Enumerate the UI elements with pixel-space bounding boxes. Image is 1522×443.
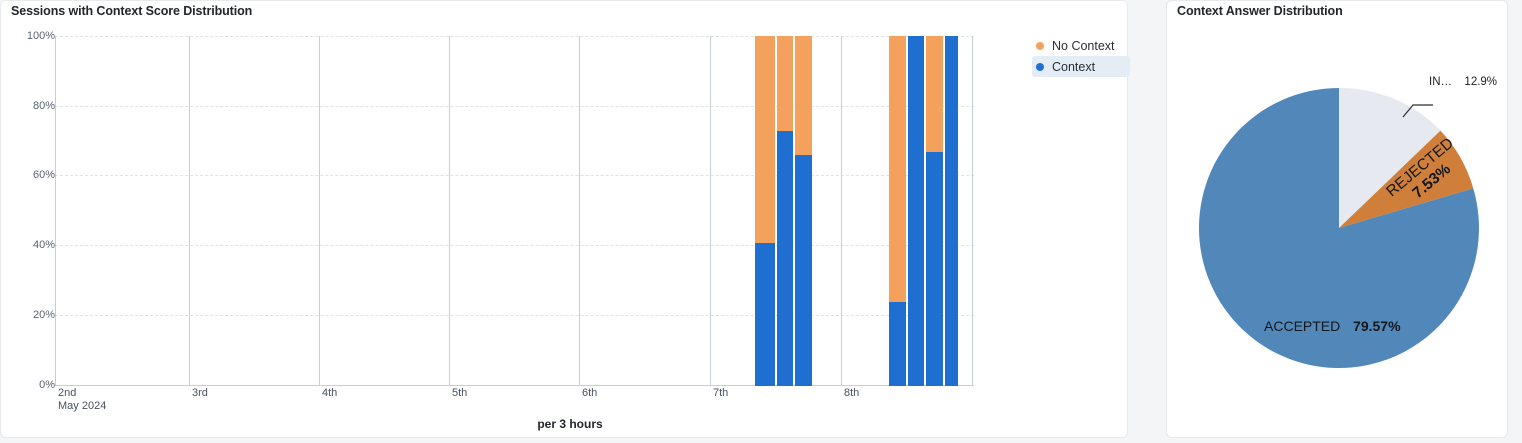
pie-label-accepted-group: ACCEPTED 79.57%	[1264, 318, 1401, 334]
legend-item-context[interactable]: Context	[1032, 56, 1130, 77]
x-axis-tick-4th: 4th	[319, 387, 337, 400]
plot-area	[55, 36, 974, 386]
y-axis-tick-60: 60%	[15, 169, 55, 181]
bar-segment-context	[945, 36, 958, 386]
legend-dot-icon	[1036, 42, 1044, 50]
bar-segment-context	[889, 302, 906, 386]
y-axis-tick-40: 40%	[15, 239, 55, 251]
x-axis-tick-7th: 7th	[710, 387, 728, 400]
x-axis-tick-5th: 5th	[449, 387, 467, 400]
sessions-context-score-card: Sessions with Context Score Distribution…	[0, 0, 1128, 438]
stacked-bar[interactable]	[926, 36, 943, 386]
bar-segment-no-context	[777, 36, 793, 131]
pie-label-incomplete-group: IN… 12.9%	[1429, 76, 1497, 88]
chart-legend: No Context Context	[1032, 35, 1130, 77]
bar-segment-no-context	[795, 36, 812, 155]
legend-label: Context	[1052, 60, 1095, 74]
stacked-bar[interactable]	[755, 36, 775, 386]
bar-segment-context	[908, 36, 924, 386]
stacked-bar[interactable]	[889, 36, 906, 386]
bar-segment-context	[777, 131, 793, 387]
y-axis-tick-0: 0%	[15, 379, 55, 391]
dashboard-page: Sessions with Context Score Distribution…	[0, 0, 1522, 443]
legend-dot-icon	[1036, 63, 1044, 71]
pie-label-incomplete: IN…	[1429, 76, 1452, 88]
pie-value-incomplete: 12.9%	[1464, 76, 1497, 88]
pie-chart: REJECTED 7.53% IN… 12.9% ACCEPTED 79.57%	[1167, 25, 1512, 435]
y-axis-tick-80: 80%	[15, 100, 55, 112]
bar-chart: 100% 80% 60% 40% 20% 0%	[1, 1, 1139, 439]
bar-segment-no-context	[926, 36, 943, 152]
bar-segment-no-context	[889, 36, 906, 302]
bar-segment-context	[755, 243, 775, 387]
legend-item-no-context[interactable]: No Context	[1032, 35, 1130, 56]
x-axis-month-label: May 2024	[58, 400, 106, 413]
x-axis-tick-6th: 6th	[579, 387, 597, 400]
bar-segment-no-context	[755, 36, 775, 243]
pie-value-accepted: 79.57%	[1353, 318, 1400, 334]
stacked-bar[interactable]	[777, 36, 793, 386]
stacked-bar[interactable]	[908, 36, 924, 386]
bar-segment-context	[926, 152, 943, 387]
legend-label: No Context	[1052, 39, 1115, 53]
context-answer-distribution-card: Context Answer Distribution REJECTED 7.5…	[1166, 0, 1508, 438]
bar-segment-context	[795, 155, 812, 386]
y-axis-tick-100: 100%	[15, 30, 55, 42]
x-axis-title: per 3 hours	[1, 417, 1139, 431]
x-axis-tick-8th: 8th	[841, 387, 859, 400]
stacked-bar[interactable]	[795, 36, 812, 386]
x-axis-tick-3rd: 3rd	[189, 387, 208, 400]
stacked-bar[interactable]	[945, 36, 958, 386]
y-axis-tick-20: 20%	[15, 309, 55, 321]
x-axis-tick-label: 2nd	[58, 387, 76, 399]
x-axis-tick-2nd: 2nd May 2024	[55, 387, 106, 412]
pie-label-accepted: ACCEPTED	[1264, 318, 1340, 334]
pie-chart-title: Context Answer Distribution	[1177, 4, 1343, 18]
